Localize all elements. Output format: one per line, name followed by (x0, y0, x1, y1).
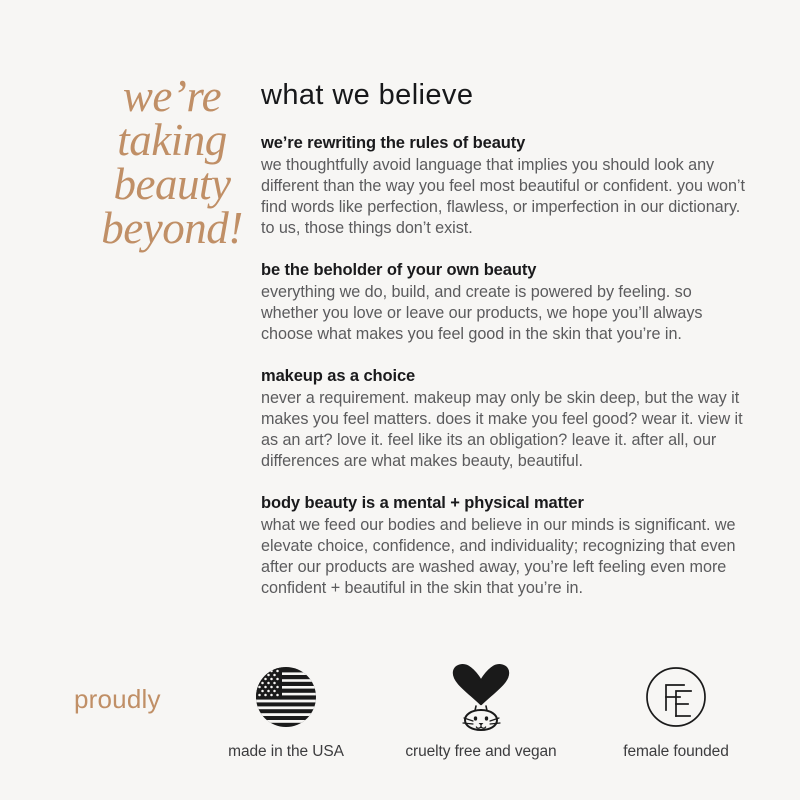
badge-caption: female founded (623, 743, 728, 761)
what-we-believe-section: what we believe we’re rewriting the rule… (261, 80, 753, 599)
belief-heading: body beauty is a mental + physical matte… (261, 493, 753, 514)
belief-block: be the beholder of your own beauty every… (261, 260, 753, 345)
cruelty-free-bunny-heart-icon (444, 660, 518, 734)
badge-caption: cruelty free and vegan (405, 743, 556, 761)
usa-flag-circle-icon (255, 660, 317, 734)
brand-headline: we’re taking beauty beyond! (96, 74, 248, 250)
belief-heading: makeup as a choice (261, 366, 753, 387)
badge-made-in-usa: made in the USA (196, 660, 376, 761)
belief-heading: we’re rewriting the rules of beauty (261, 133, 753, 154)
badge-list: made in the USA (196, 660, 766, 761)
belief-body: what we feed our bodies and believe in o… (261, 515, 753, 599)
proudly-label: proudly (74, 684, 161, 715)
headline-line-3: beauty (96, 162, 248, 206)
headline-line-4: beyond! (96, 206, 248, 250)
belief-block: body beauty is a mental + physical matte… (261, 493, 753, 599)
belief-body: everything we do, build, and create is p… (261, 282, 753, 345)
female-founded-monogram-icon (643, 660, 709, 734)
headline-line-1: we’re (96, 74, 248, 118)
proudly-badge-row: proudly (0, 660, 800, 780)
page-title: what we believe (261, 80, 753, 112)
belief-heading: be the beholder of your own beauty (261, 260, 753, 281)
badge-cruelty-free: cruelty free and vegan (391, 660, 571, 761)
badge-female-founded: female founded (586, 660, 766, 761)
belief-block: we’re rewriting the rules of beauty we t… (261, 133, 753, 239)
headline-line-2: taking (96, 118, 248, 162)
belief-body: never a requirement. makeup may only be … (261, 388, 753, 472)
belief-block: makeup as a choice never a requirement. … (261, 366, 753, 472)
badge-caption: made in the USA (228, 743, 344, 761)
belief-body: we thoughtfully avoid language that impl… (261, 155, 753, 239)
